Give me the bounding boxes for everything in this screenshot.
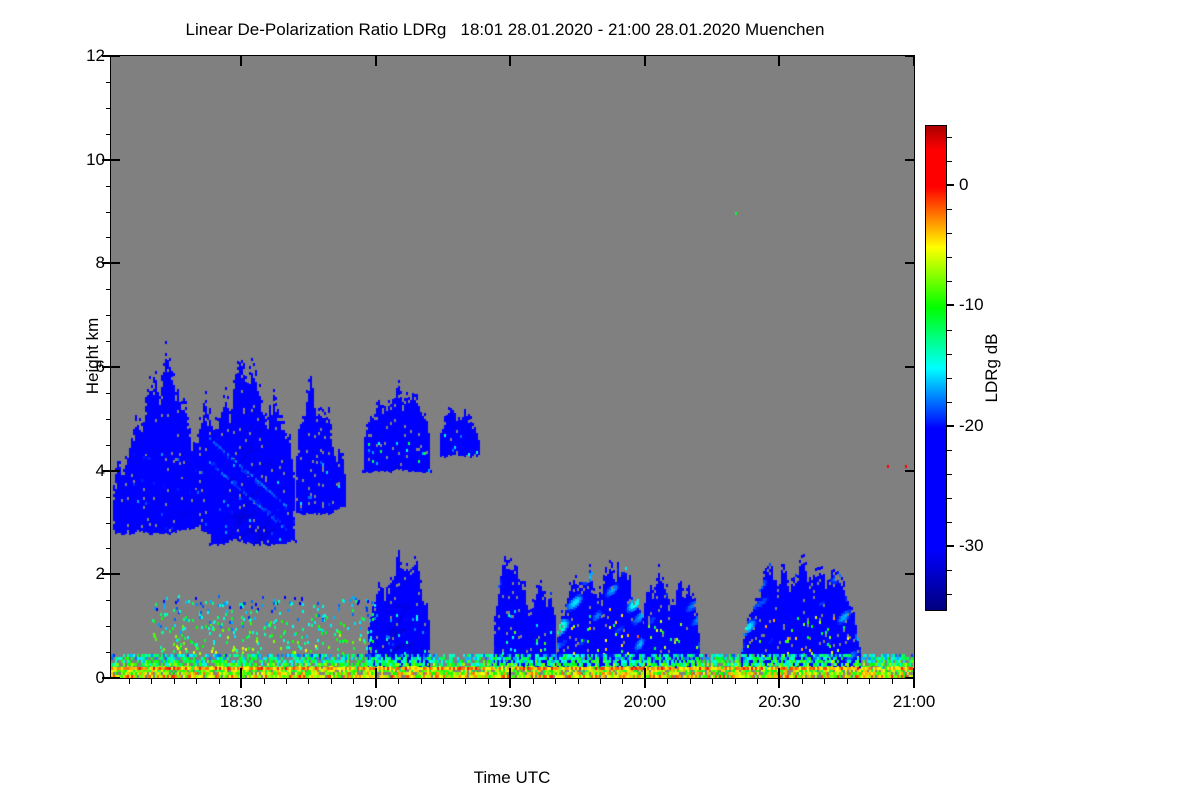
colorbar-tick-minor [947, 498, 952, 499]
x-tick-minor [308, 678, 309, 684]
colorbar-tick-minor [947, 281, 952, 282]
x-tick-minor [735, 678, 736, 684]
x-tick-major [240, 678, 242, 688]
x-tick-major-inner [913, 668, 915, 678]
plot-area: 024681012 18:3019:0019:3020:0020:3021:00… [110, 55, 915, 679]
x-tick-major-top [509, 56, 511, 66]
colorbar-tick-label: -20 [959, 416, 984, 436]
x-tick-label: 19:30 [489, 692, 532, 712]
x-tick-minor [578, 678, 579, 684]
x-tick-minor [555, 678, 556, 684]
colorbar-tick-minor [947, 257, 952, 258]
radar-ldr-figure: Linear De-Polarization Ratio LDRg 18:01 … [0, 0, 1200, 800]
y-tick-label: 0 [96, 668, 105, 688]
x-tick-minor [847, 678, 848, 684]
colorbar-tick-minor [947, 378, 952, 379]
y-axis-label: Height km [83, 318, 103, 395]
y-tick-label: 2 [96, 564, 105, 584]
x-tick-minor [892, 678, 893, 684]
x-tick-minor [533, 678, 534, 684]
y-tick-minor [106, 419, 111, 420]
y-tick-major-right [905, 262, 914, 264]
x-tick-minor [219, 678, 220, 684]
colorbar-tick-minor [947, 570, 952, 571]
x-tick-minor [824, 678, 825, 684]
y-tick-minor [106, 341, 111, 342]
y-tick-minor [106, 445, 111, 446]
y-tick-major-inner [111, 573, 120, 575]
colorbar-tick-label: 0 [959, 175, 968, 195]
colorbar-gradient [925, 125, 947, 611]
colorbar-tick-minor [947, 522, 952, 523]
x-tick-minor [600, 678, 601, 684]
y-tick-minor [106, 652, 111, 653]
x-tick-minor [398, 678, 399, 684]
y-tick-minor [106, 82, 111, 83]
y-tick-label: 12 [86, 46, 105, 66]
x-tick-minor [353, 678, 354, 684]
y-tick-minor [106, 315, 111, 316]
x-tick-minor [802, 678, 803, 684]
x-tick-label: 21:00 [893, 692, 936, 712]
y-tick-major-right [905, 366, 914, 368]
x-tick-minor [869, 678, 870, 684]
page-title: Linear De-Polarization Ratio LDRg 18:01 … [0, 20, 1010, 40]
x-tick-minor [196, 678, 197, 684]
x-tick-major-top [778, 56, 780, 66]
colorbar: 0-10-20-30 [925, 125, 947, 611]
y-tick-major-inner [111, 262, 120, 264]
colorbar-tick-minor [947, 402, 952, 403]
x-tick-minor [174, 678, 175, 684]
x-tick-major-top [375, 56, 377, 66]
x-tick-major [644, 678, 646, 688]
y-tick-minor [106, 108, 111, 109]
y-tick-label: 8 [96, 253, 105, 273]
y-tick-major-inner [111, 159, 120, 161]
x-tick-major-inner [644, 668, 646, 678]
x-tick-label: 20:30 [758, 692, 801, 712]
x-tick-label: 20:00 [624, 692, 667, 712]
x-tick-major-inner [375, 668, 377, 678]
y-tick-major-inner [111, 470, 120, 472]
y-tick-major-right [905, 159, 914, 161]
x-tick-minor [757, 678, 758, 684]
x-tick-minor [286, 678, 287, 684]
x-tick-minor [129, 678, 130, 684]
colorbar-label: LDRg dB [982, 334, 1002, 403]
y-tick-minor [106, 134, 111, 135]
colorbar-tick-major [947, 184, 954, 186]
colorbar-tick-minor [947, 233, 952, 234]
y-tick-minor [106, 600, 111, 601]
y-tick-major-inner [111, 55, 120, 57]
y-tick-minor [106, 497, 111, 498]
y-tick-major-inner [111, 366, 120, 368]
x-tick-minor [712, 678, 713, 684]
colorbar-tick-minor [947, 354, 952, 355]
colorbar-tick-minor [947, 594, 952, 595]
x-tick-major [778, 678, 780, 688]
x-tick-minor [667, 678, 668, 684]
x-tick-major [913, 678, 915, 688]
x-tick-major-inner [240, 668, 242, 678]
x-tick-major-top [240, 56, 242, 66]
y-tick-minor [106, 212, 111, 213]
y-tick-minor [106, 186, 111, 187]
colorbar-tick-minor [947, 137, 952, 138]
y-tick-major-inner [111, 677, 120, 679]
x-tick-minor [421, 678, 422, 684]
y-tick-minor [106, 393, 111, 394]
x-tick-major-inner [778, 668, 780, 678]
x-tick-major-top [913, 56, 915, 66]
x-tick-major [509, 678, 511, 688]
x-tick-major [375, 678, 377, 688]
colorbar-tick-minor [947, 161, 952, 162]
colorbar-tick-label: -10 [959, 295, 984, 315]
colorbar-tick-minor [947, 209, 952, 210]
heatmap-canvas [111, 56, 914, 678]
colorbar-tick-major [947, 545, 954, 547]
x-tick-minor [264, 678, 265, 684]
y-tick-label: 4 [96, 461, 105, 481]
x-tick-minor [622, 678, 623, 684]
y-tick-minor [106, 289, 111, 290]
y-tick-major-right [905, 573, 914, 575]
x-axis-label: Time UTC [474, 768, 551, 788]
x-tick-label: 18:30 [220, 692, 263, 712]
colorbar-tick-minor [947, 330, 952, 331]
y-tick-minor [106, 548, 111, 549]
x-tick-major-top [644, 56, 646, 66]
x-tick-major-inner [509, 668, 511, 678]
y-tick-label: 10 [86, 150, 105, 170]
x-tick-minor [151, 678, 152, 684]
y-tick-minor [106, 523, 111, 524]
colorbar-tick-label: -30 [959, 536, 984, 556]
y-tick-minor [106, 237, 111, 238]
x-tick-minor [331, 678, 332, 684]
colorbar-tick-major [947, 304, 954, 306]
x-tick-minor [443, 678, 444, 684]
x-tick-minor [690, 678, 691, 684]
x-tick-minor [465, 678, 466, 684]
colorbar-tick-minor [947, 474, 952, 475]
colorbar-tick-major [947, 425, 954, 427]
colorbar-tick-minor [947, 450, 952, 451]
x-tick-label: 19:00 [354, 692, 397, 712]
x-tick-minor [488, 678, 489, 684]
y-tick-major-right [905, 470, 914, 472]
y-tick-minor [106, 626, 111, 627]
